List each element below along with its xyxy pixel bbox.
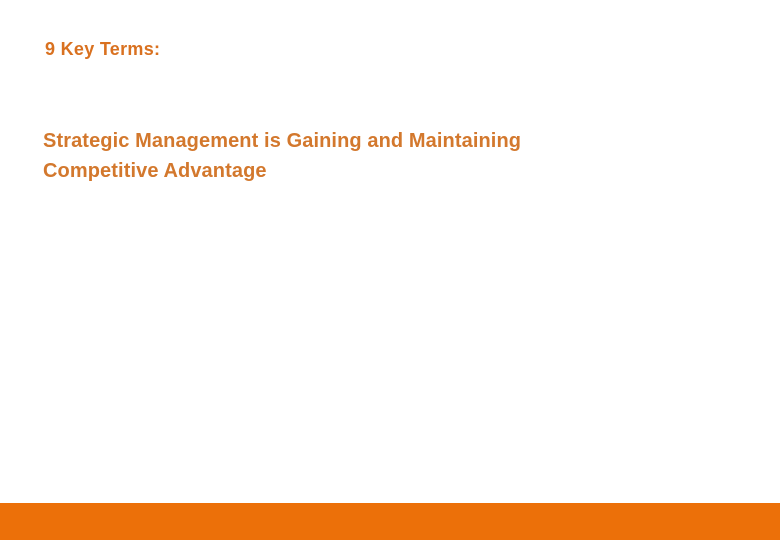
slide-body-text: Strategic Management is Gaining and Main… xyxy=(43,126,703,186)
page-title: 9 Key Terms: xyxy=(45,38,160,60)
slide-content-area xyxy=(43,190,737,490)
slide-canvas: 9 Key Terms: Strategic Management is Gai… xyxy=(0,0,780,540)
body-line-2: Competitive Advantage xyxy=(43,156,703,186)
body-line-1: Strategic Management is Gaining and Main… xyxy=(43,126,703,156)
footer-accent-bar xyxy=(0,503,780,540)
